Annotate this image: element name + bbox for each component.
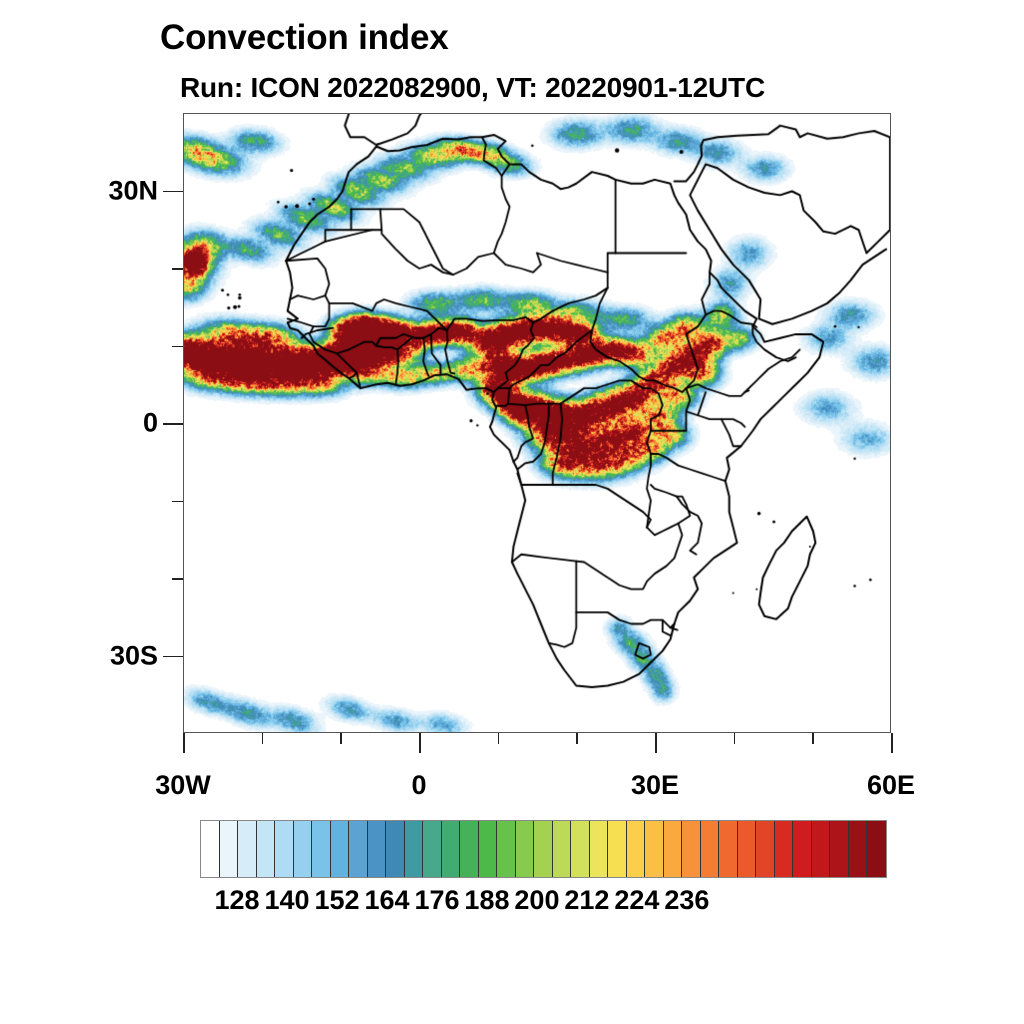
colorbar-cell bbox=[220, 821, 239, 877]
axis-tick-x bbox=[812, 733, 814, 744]
page-title: Convection index bbox=[160, 18, 449, 58]
axis-tick-x bbox=[576, 733, 578, 744]
axis-label-x: 30W bbox=[155, 770, 211, 801]
axis-tick-x bbox=[498, 733, 500, 744]
colorbar-cell bbox=[812, 821, 831, 877]
colorbar-cell bbox=[664, 821, 683, 877]
colorbar-cell bbox=[331, 821, 350, 877]
colorbar-cell bbox=[405, 821, 424, 877]
chart-subtitle: Run: ICON 2022082900, VT: 20220901-12UTC bbox=[180, 72, 765, 104]
axis-tick-y-major bbox=[163, 656, 183, 658]
colorbar-cell bbox=[775, 821, 794, 877]
colorbar-cell bbox=[312, 821, 331, 877]
axis-tick-x-major bbox=[655, 733, 657, 753]
colorbar-cell bbox=[238, 821, 257, 877]
axis-label-y: 30N bbox=[108, 175, 158, 206]
colorbar-cell bbox=[701, 821, 720, 877]
colorbar-cell bbox=[627, 821, 646, 877]
colorbar-cell bbox=[497, 821, 516, 877]
colorbar-cell bbox=[275, 821, 294, 877]
axis-tick-y bbox=[172, 268, 183, 270]
colorbar-cell bbox=[257, 821, 276, 877]
axis-tick-y bbox=[172, 578, 183, 580]
colorbar-cell bbox=[571, 821, 590, 877]
colorbar-cell bbox=[590, 821, 609, 877]
axis-tick-x-major bbox=[891, 733, 893, 753]
colorbar-cell bbox=[867, 821, 886, 877]
colorbar-cell bbox=[294, 821, 313, 877]
colorbar-tick-label: 212 bbox=[564, 885, 609, 916]
colorbar-tick-label: 140 bbox=[264, 885, 309, 916]
colorbar-tick-label: 176 bbox=[414, 885, 459, 916]
axis-tick-y bbox=[172, 501, 183, 503]
axis-label-y: 30S bbox=[110, 640, 158, 671]
colorbar-cell bbox=[386, 821, 405, 877]
colorbar-tick-label: 224 bbox=[614, 885, 659, 916]
axis-tick-x bbox=[734, 733, 736, 744]
colorbar-cell bbox=[423, 821, 442, 877]
axis-tick-x bbox=[340, 733, 342, 744]
colorbar-cell bbox=[460, 821, 479, 877]
colorbar-tick-label: 200 bbox=[514, 885, 559, 916]
colorbar-tick-label: 188 bbox=[464, 885, 509, 916]
colorbar-cell bbox=[719, 821, 738, 877]
axis-tick-y-major bbox=[163, 423, 183, 425]
colorbar-tick-label: 152 bbox=[314, 885, 359, 916]
colorbar-cell bbox=[682, 821, 701, 877]
axis-tick-y-major bbox=[163, 191, 183, 193]
colorbar-cell bbox=[442, 821, 461, 877]
axis-label-x: 60E bbox=[867, 770, 915, 801]
colorbar-cell bbox=[553, 821, 572, 877]
axis-tick-x bbox=[262, 733, 264, 744]
colorbar-cell bbox=[645, 821, 664, 877]
colorbar-cell bbox=[368, 821, 387, 877]
colorbar-cell bbox=[349, 821, 368, 877]
colorbar-cell bbox=[201, 821, 220, 877]
colorbar-cell bbox=[849, 821, 868, 877]
axis-label-y: 0 bbox=[143, 408, 158, 439]
convection-index-raster bbox=[184, 114, 890, 732]
axis-label-x: 30E bbox=[631, 770, 679, 801]
colorbar-cell bbox=[516, 821, 535, 877]
colorbar-tick-label: 236 bbox=[664, 885, 709, 916]
map-plot-area bbox=[183, 113, 891, 733]
colorbar-tick-label: 164 bbox=[364, 885, 409, 916]
colorbar-cell bbox=[608, 821, 627, 877]
colorbar-cell bbox=[793, 821, 812, 877]
colorbar bbox=[200, 820, 887, 878]
axis-tick-y bbox=[172, 346, 183, 348]
axis-label-x: 0 bbox=[411, 770, 426, 801]
colorbar-tick-label: 128 bbox=[214, 885, 259, 916]
colorbar-cell bbox=[756, 821, 775, 877]
colorbar-cell bbox=[534, 821, 553, 877]
colorbar-cell bbox=[830, 821, 849, 877]
colorbar-cell bbox=[479, 821, 498, 877]
axis-tick-x-major bbox=[419, 733, 421, 753]
axis-tick-x-major bbox=[183, 733, 185, 753]
colorbar-cell bbox=[738, 821, 757, 877]
